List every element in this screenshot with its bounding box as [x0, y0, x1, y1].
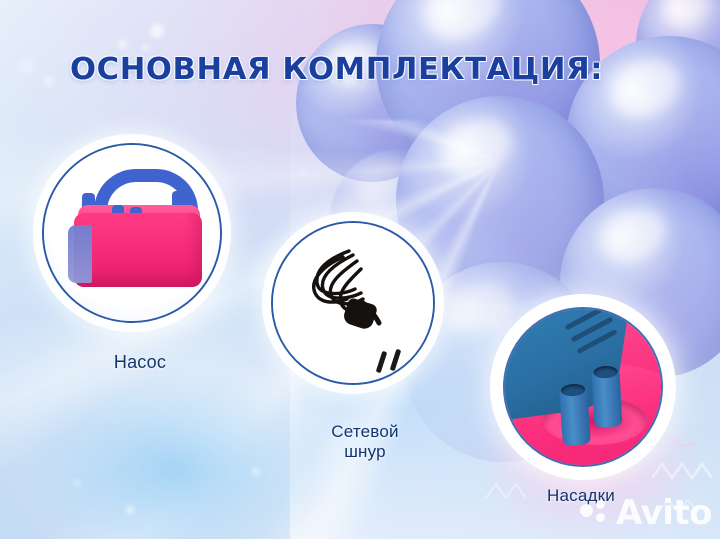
feature-pump-caption: Насос [60, 352, 220, 373]
nozzles-icon [505, 309, 661, 465]
feature-pump-circle [42, 143, 222, 323]
product-infographic: ОСНОВНАЯ КОМПЛЕКТАЦИЯ: Насос [0, 0, 720, 539]
avito-wordmark: Avito [616, 493, 712, 533]
avito-dots-icon [580, 500, 610, 526]
bokeh-dot-icon [74, 480, 80, 486]
bokeh-dot-icon [252, 468, 259, 475]
bokeh-dot-icon [150, 24, 164, 38]
bokeh-dot-icon [118, 40, 127, 49]
pump-body [74, 213, 202, 287]
pump-side-panel [68, 225, 92, 283]
bokeh-dot-icon [142, 44, 149, 51]
avito-watermark: Avito [580, 493, 712, 533]
bokeh-dot-icon [44, 76, 54, 86]
nozzle-tube [592, 370, 623, 427]
page-title: ОСНОВНАЯ КОМПЛЕКТАЦИЯ: [70, 52, 603, 87]
bokeh-dot-icon [126, 506, 134, 514]
feature-power-cord-caption: Сетевой шнур [285, 422, 445, 462]
bokeh-dot-icon [300, 170, 306, 176]
feature-power-cord-circle [271, 221, 435, 385]
air-pump-icon [68, 191, 208, 287]
feature-nozzles-circle [503, 307, 663, 467]
bokeh-dot-icon [18, 58, 34, 74]
nozzle-tube [559, 388, 591, 446]
